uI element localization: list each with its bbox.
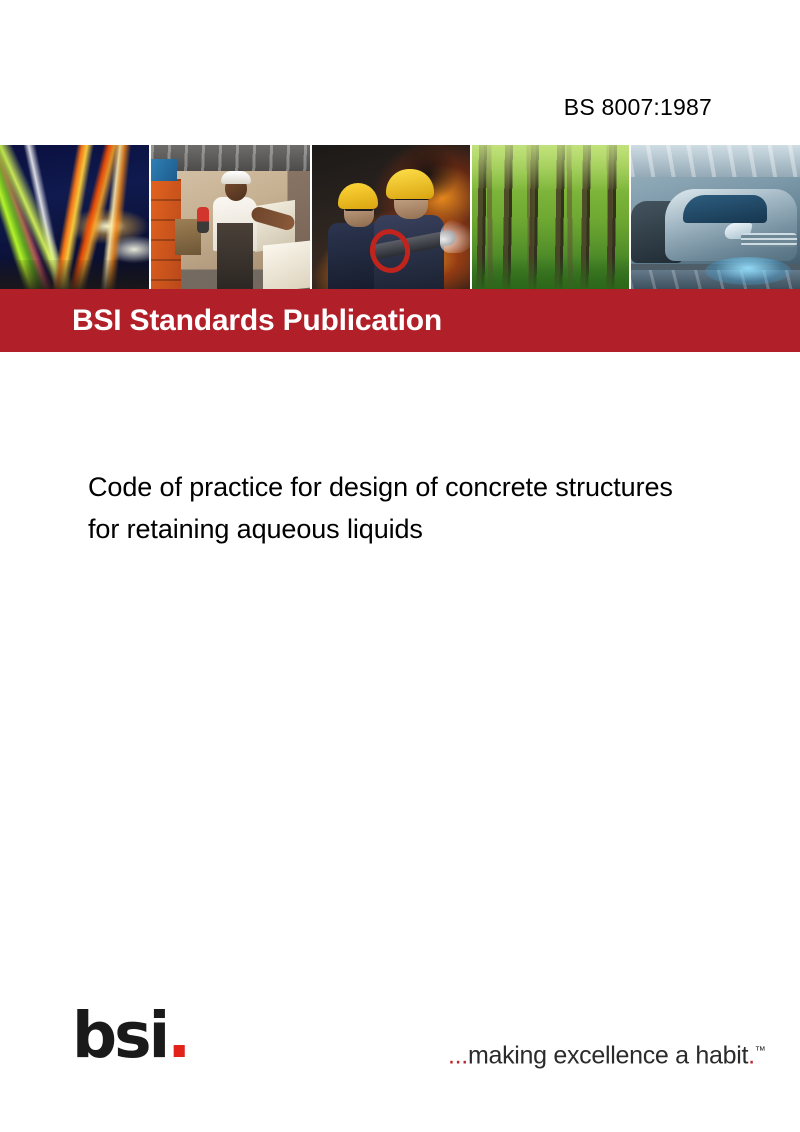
tagline-text: making excellence a habit xyxy=(468,1041,748,1069)
page-title-line-1: Code of practice for design of concrete … xyxy=(88,466,800,508)
photo-panel-car-assembly-line xyxy=(629,145,800,290)
photo-panel-firefighters xyxy=(310,145,469,290)
banner-label: BSI Standards Publication xyxy=(72,304,442,338)
bsi-logo-dot: . xyxy=(167,999,188,1072)
car-windscreen xyxy=(683,195,767,223)
photo-panel-warehouse-worker xyxy=(149,145,310,290)
photo-panel-night-traffic-light-trails xyxy=(0,145,149,290)
fire-water-spray xyxy=(440,219,469,253)
photo-strip xyxy=(0,145,800,290)
bsi-logo: bsi. xyxy=(72,1004,188,1067)
bsi-logo-text: bsi xyxy=(72,999,167,1072)
trademark-icon: ™ xyxy=(755,1045,766,1057)
page-title-line-2: for retaining aqueous liquids xyxy=(88,508,800,550)
warehouse-blue-crate xyxy=(151,159,177,181)
car-grille xyxy=(741,233,797,247)
bsi-standards-banner: BSI Standards Publication xyxy=(0,289,800,352)
warehouse-worker-apron xyxy=(217,223,253,290)
warehouse-background-worker xyxy=(197,207,209,233)
tagline-leading-dots: ... xyxy=(448,1041,468,1069)
standard-number: BS 8007:1987 xyxy=(564,94,712,121)
bsi-tagline: ...making excellence a habit.™ xyxy=(448,1036,766,1070)
tagline-trailing-dot: . xyxy=(748,1041,755,1069)
page-title: Code of practice for design of concrete … xyxy=(88,466,800,550)
warehouse-box-lower xyxy=(263,240,310,290)
firefighter-left-helmet xyxy=(338,183,378,209)
warehouse-worker-cap xyxy=(221,171,251,184)
factory-roof-beams xyxy=(631,145,800,177)
car-underglow-light xyxy=(705,257,791,285)
photo-panel-pine-forest xyxy=(470,145,629,290)
